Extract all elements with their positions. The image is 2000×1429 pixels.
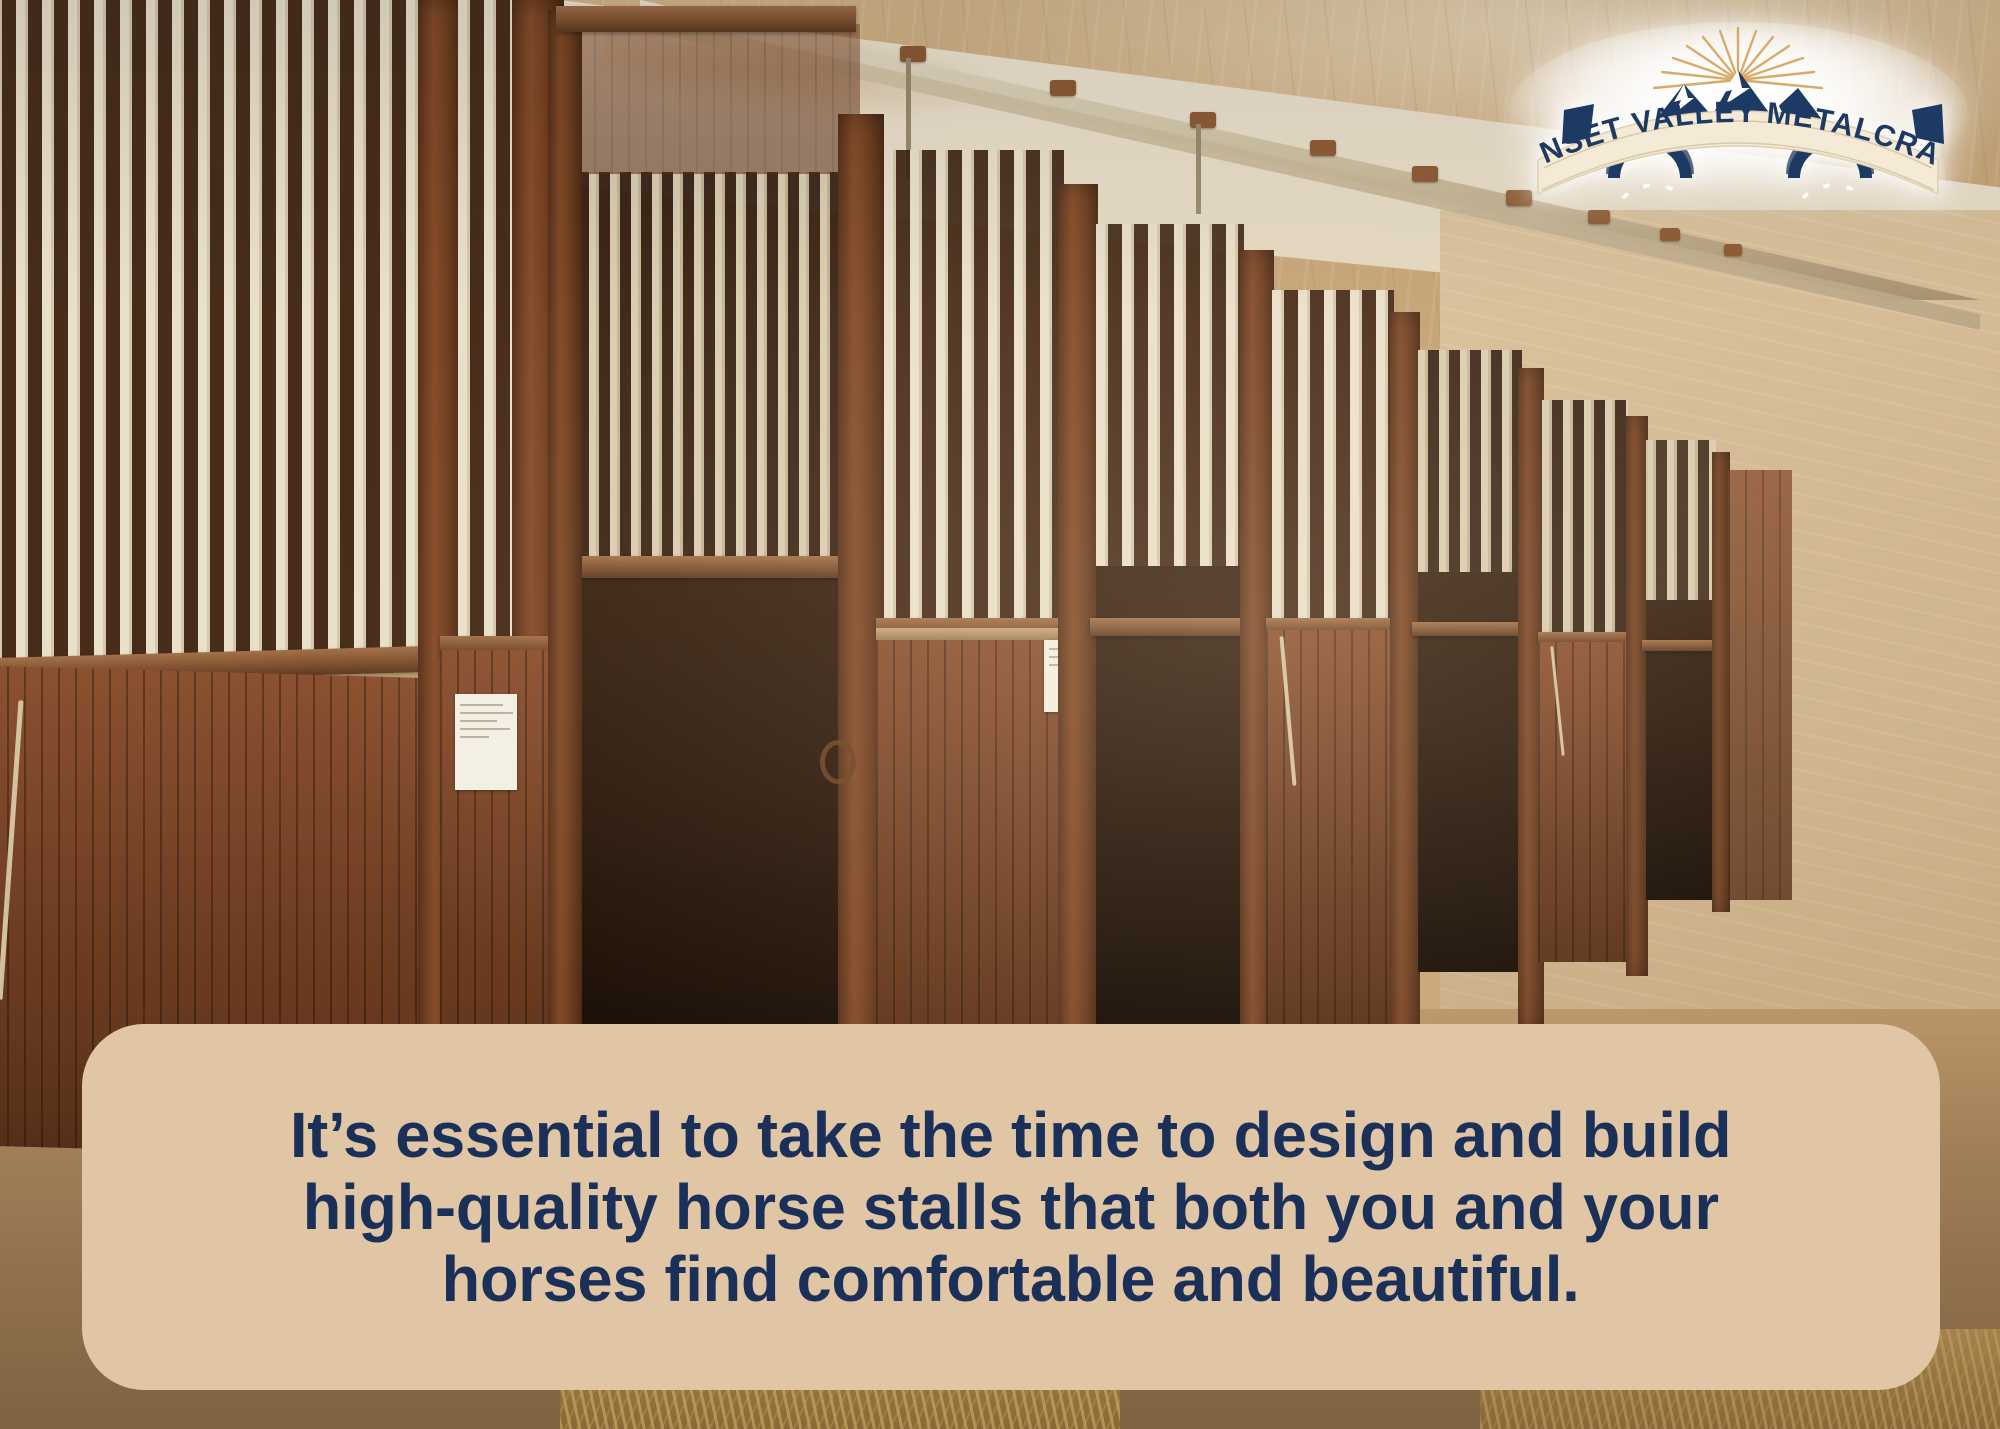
rail-hanger [1050,80,1076,96]
brand-logo[interactable]: SUNSET VALLEY METALCRAFT [1498,18,1978,208]
stall-post [1058,184,1098,1144]
image-canvas: SUNSET VALLEY METALCRAFT It’s essential … [0,0,2000,1429]
stall-header-panel [560,24,860,174]
stall-cap-rail [560,556,862,578]
stall-interior-dark [1096,566,1244,1036]
stall-door-panel [1728,470,1792,900]
rail-hanger [1724,244,1742,256]
rail-hanger [1310,140,1336,156]
stall-bars [884,150,1064,620]
tie-ring [820,740,856,784]
caption-banner: It’s essential to take the time to desig… [82,1024,1940,1390]
caption-line-2: high-quality horse stalls that both you … [303,1171,1719,1243]
rail-hanger [1660,228,1680,241]
stall-bars [1272,290,1394,622]
rail-hanger [900,46,926,62]
stall-bars [568,172,858,572]
stall-bars [1542,400,1628,636]
rail-hanger-rod [1196,124,1201,214]
stall-door-panel [1538,642,1634,962]
caption-line-1: It’s essential to take the time to desig… [290,1099,1731,1171]
stall-cap-rail [1642,640,1720,651]
rail-hanger [1588,210,1610,224]
stall-cap-rail [1090,618,1250,636]
stall-post [1626,416,1648,976]
door-sill [876,628,1072,640]
caption-line-3: horses find comfortable and beautiful. [442,1243,1580,1315]
rail-hanger [1190,112,1216,128]
stall-lintel [556,6,856,32]
stall-doorframe [548,10,582,1160]
stall-cap-rail [1412,622,1528,636]
rail-hanger [1412,166,1438,182]
stall-post [1390,312,1420,1072]
stall-notice-card [455,694,517,790]
stall-bars [0,0,420,660]
stall-bars [1096,224,1244,624]
